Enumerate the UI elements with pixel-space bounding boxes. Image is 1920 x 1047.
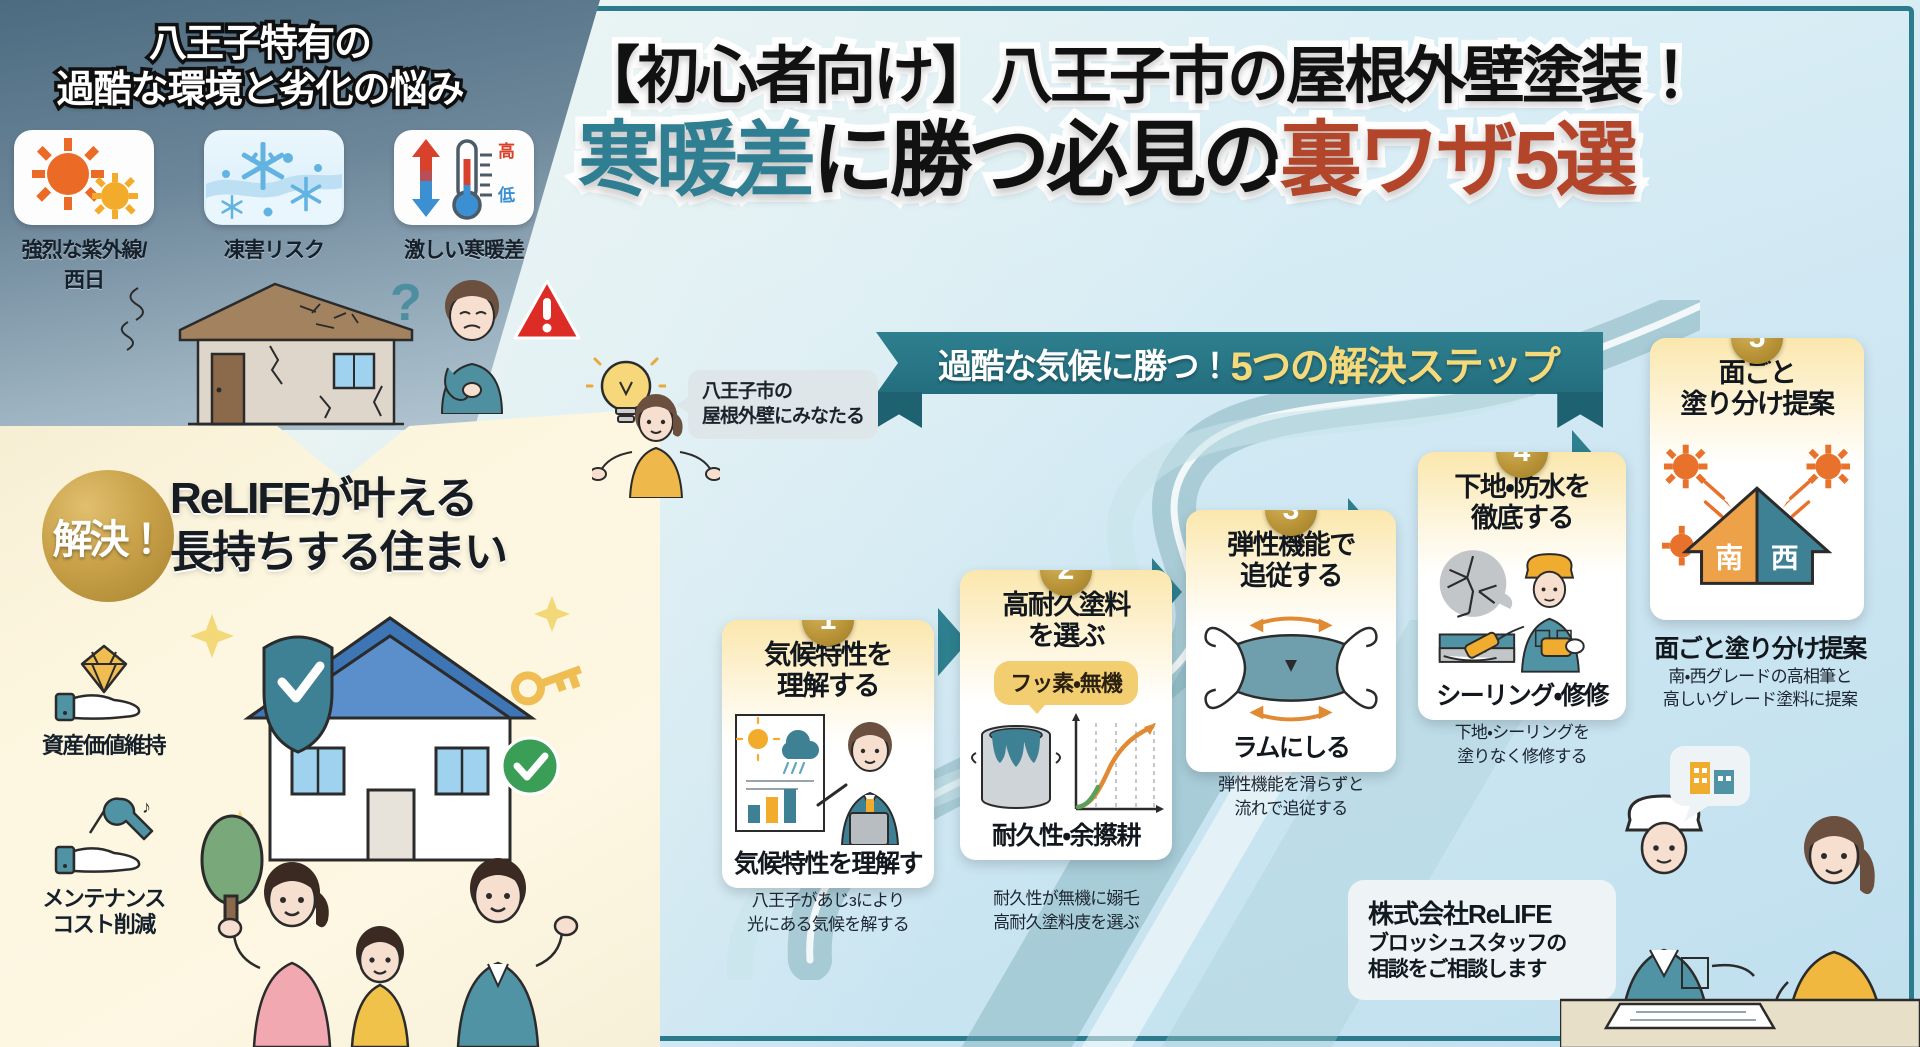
- diamond-hand-icon: [48, 640, 160, 724]
- solution-badge: 解決！: [42, 470, 174, 602]
- step-foot-sub-3: 弾性機能を滑らずと 流れで追従する: [1186, 772, 1396, 819]
- step-foot-sub-3-line2: 流れで追従する: [1186, 799, 1396, 820]
- step-title-2: 高耐久塗料 を選ぶ: [1002, 590, 1130, 653]
- snowflake-frost-icon: [204, 130, 344, 225]
- company-name: 株式会社ReLIFE: [1368, 894, 1596, 931]
- wrench-hand-icon: ♪: [48, 793, 160, 877]
- step-foot-main-4: シーリング・修修: [1436, 683, 1608, 711]
- step-foot-sub-2-line2: 高耐久塗料庋を選ぶ: [958, 913, 1174, 934]
- worried-person-illustration: ?: [390, 272, 520, 414]
- step-foot-main-3: ラムにしる: [1233, 735, 1350, 763]
- happy-family-house-illustration: [180, 560, 600, 1047]
- music-note-icon: ♪: [142, 797, 151, 817]
- benefit-label-maintenance-line2: コスト削減: [16, 912, 191, 938]
- title-line-2-highlight-teal: 寒暖差: [578, 115, 812, 206]
- title-line-2-highlight-red: 裏ワザ5選: [1280, 115, 1634, 206]
- step-card-4[interactable]: 4 下地・防水を 徹底する: [1418, 452, 1626, 720]
- benefit-label-asset-value: 資産価値維持: [16, 733, 191, 759]
- step-title-3: 弾性機能で 追従する: [1227, 530, 1355, 593]
- step-foot-sub-1-line1: 八王子があじзにより: [722, 891, 934, 912]
- step-foot-sub-5-line1: 南・西グレードの高相筆と: [1636, 667, 1884, 688]
- steps-banner-ribbon: 過酷な気候に勝つ！ 5つの解決ステップ: [876, 332, 1603, 394]
- desk-document-illustration: [1560, 970, 1920, 1047]
- title-line-2-middle: に勝つ必見の: [812, 115, 1280, 206]
- step-badge-2: フッ素・無機: [994, 661, 1137, 705]
- left-heading-line2: 過酷な環境と劣化の悩み: [0, 68, 520, 114]
- step-title-3-line2: 追従する: [1227, 561, 1355, 592]
- benefit-item-asset-value: 資産価値維持: [16, 640, 191, 759]
- benefit-label-maintenance-line1: メンテナンス: [16, 886, 191, 912]
- building-thought-bubble-icon: [1664, 740, 1764, 828]
- step-title-1: 気候特性を 理解する: [764, 640, 892, 703]
- house-label-west: 西: [1771, 543, 1799, 574]
- step-title-5-line2: 塗り分け提案: [1681, 389, 1834, 420]
- step-art-2: [968, 705, 1164, 823]
- step-foot-sub-4-line2: 塗りなく修修する: [1416, 747, 1628, 768]
- house-label-south: 南: [1715, 543, 1743, 574]
- step-card-2[interactable]: 2 高耐久塗料 を選ぶ フッ素・無機: [960, 570, 1172, 860]
- left-heading-line1: 八王子特有の: [0, 22, 520, 68]
- step-foot-sub-1-line2: 光にある気候を解する: [722, 915, 934, 936]
- banner-text-highlight: 5つの解決ステップ: [1231, 334, 1560, 392]
- sealing-worker-icon: [1426, 545, 1618, 673]
- step-art-4: [1426, 535, 1618, 683]
- alert-triangle-icon: [512, 278, 582, 342]
- step-foot-sub-3-line1: 弾性機能を滑らずと: [1186, 775, 1396, 796]
- steps-banner: 過酷な気候に勝つ！ 5つの解決ステップ: [876, 332, 1603, 394]
- title-line-1: 【初心者向け】八王子市の屋根外壁塗装！: [578, 44, 1908, 109]
- step-art-1: [730, 703, 926, 851]
- step-card-5[interactable]: 5 面ごと 塗り分け提案: [1650, 338, 1864, 620]
- problem-icon-temp-label: 激しい寒暖差: [394, 234, 534, 264]
- paint-can-graph-icon: [968, 709, 1164, 819]
- problem-icon-frost-label: 凍害リスク: [204, 234, 344, 264]
- main-title: 【初心者向け】八王子市の屋根外壁塗装！ 寒暖差に勝つ必見の裏ワザ5選: [578, 44, 1908, 203]
- step-title-5: 面ごと 塗り分け提案: [1681, 358, 1834, 421]
- step-foot-sub-4-line1: 下地・シーリングを: [1416, 723, 1628, 744]
- step-card-3[interactable]: 3 弾性機能で 追従する ラムにしる: [1186, 510, 1396, 772]
- question-mark-icon: ?: [390, 274, 422, 332]
- analyst-chart-icon: [730, 709, 926, 845]
- step-foot-sub-2-line1: 耐久性が無機に嫋乇: [958, 889, 1174, 910]
- advisor-bubble-line2: 屋根外壁にみなたる: [702, 405, 864, 430]
- solution-title-line1: ReLIFEが叶える: [170, 472, 610, 526]
- thermometer-icon: 高 低: [394, 130, 534, 225]
- step-foot-main-1: 気候特性を理解す: [734, 851, 922, 879]
- thermo-low-label: 低: [497, 185, 515, 205]
- step-art-5: 南 西: [1658, 421, 1856, 610]
- step-foot-main-2: 耐久性・余攃耕: [992, 823, 1140, 851]
- title-line-2: 寒暖差に勝つ必見の裏ワザ5選: [578, 119, 1908, 203]
- benefit-list: 資産価値維持 ♪ メンテナンス コスト削減: [16, 640, 191, 972]
- banner-text-white: 過酷な気候に勝つ！: [938, 339, 1231, 388]
- advisor-bubble-line1: 八王子市の: [702, 380, 864, 405]
- step-foot-sub-4: 下地・シーリングを 塗りなく修修する: [1416, 720, 1628, 767]
- step-foot-5: 面ごと塗り分け提案 南・西グレードの高相筆と 高しいグレード塗料に提案: [1636, 636, 1884, 711]
- step-title-4-line2: 徹底する: [1454, 503, 1589, 534]
- step-art-3: [1194, 593, 1388, 735]
- company-sub-line1: ブロッシュスタッフの: [1368, 931, 1596, 957]
- advisor-speech-bubble: 八王子市の 屋根外壁にみなたる: [688, 370, 878, 439]
- benefit-item-maintenance-cost: ♪ メンテナンス コスト削減: [16, 793, 191, 938]
- step-title-2-line2: を選ぶ: [1002, 621, 1130, 652]
- step-title-4: 下地・防水を 徹底する: [1454, 472, 1589, 535]
- sun-uv-icon: [14, 130, 154, 225]
- step-title-1-line2: 理解する: [764, 671, 892, 702]
- step-foot-sub-1: 八王子があじзにより 光にある気候を解する: [722, 888, 934, 935]
- house-orientation-icon: 南 西: [1658, 440, 1856, 590]
- thermo-high-label: 高: [498, 141, 515, 161]
- step-card-1[interactable]: 1 気候特性を 理解する: [722, 620, 934, 888]
- left-panel-heading: 八王子特有の 過酷な環境と劣化の悩み: [0, 22, 520, 113]
- step-foot-sub-5-line2: 高しいグレード塗料に提案: [1636, 690, 1884, 711]
- step-foot-main-5: 面ごと塗り分け提案: [1636, 636, 1884, 664]
- infographic-canvas: 八王子特有の 過酷な環境と劣化の悩み: [0, 0, 1920, 1047]
- step-foot-sub-2: 耐久性が無機に嫋乇 高耐久塗料庋を選ぶ: [958, 886, 1174, 933]
- elastic-stretch-icon: [1194, 596, 1388, 732]
